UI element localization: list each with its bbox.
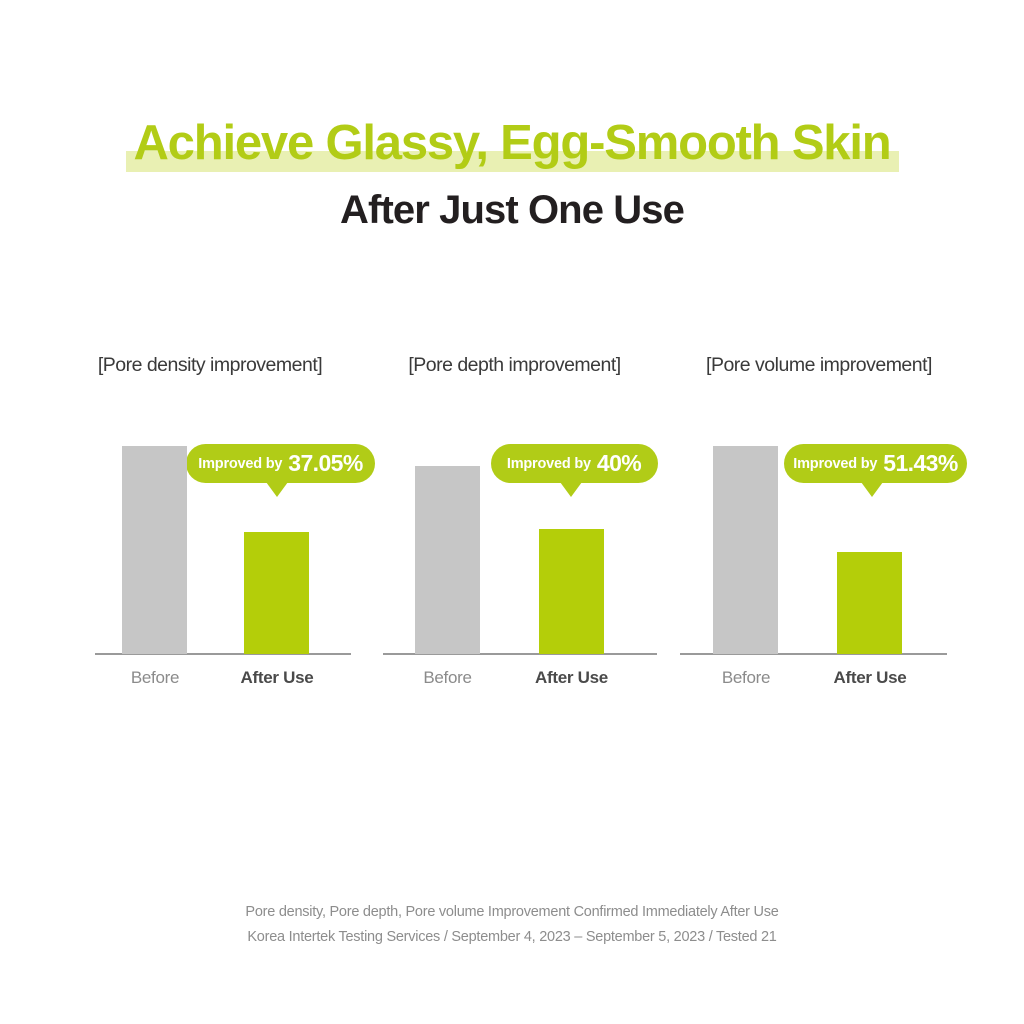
bar-after bbox=[244, 532, 309, 654]
chart-panel-pore-density: [Pore density improvement] Improved by 3… bbox=[62, 352, 358, 752]
bar-label-before: Before bbox=[114, 667, 196, 689]
panel-title: [Pore density improvement] bbox=[62, 352, 358, 378]
chart-panel-pore-volume: [Pore volume improvement] Improved by 51… bbox=[671, 352, 967, 752]
badge-prefix-text: Improved by bbox=[793, 456, 877, 472]
infographic-page: Achieve Glassy, Egg-Smooth Skin After Ju… bbox=[0, 0, 1024, 1024]
plot-area: Before After Use bbox=[62, 472, 358, 702]
panel-title: [Pore volume improvement] bbox=[671, 352, 967, 378]
headline-primary-text: Achieve Glassy, Egg-Smooth Skin bbox=[134, 116, 891, 170]
bar-before bbox=[122, 446, 187, 654]
footnote-line-2: Korea Intertek Testing Services / Septem… bbox=[0, 925, 1024, 950]
plot-area: Before After Use bbox=[367, 472, 663, 702]
headline-block: Achieve Glassy, Egg-Smooth Skin After Ju… bbox=[0, 112, 1024, 235]
charts-row: [Pore density improvement] Improved by 3… bbox=[62, 352, 967, 752]
bar-label-after: After Use bbox=[530, 667, 614, 689]
bar-before bbox=[713, 446, 778, 654]
panel-title: [Pore depth improvement] bbox=[367, 352, 663, 378]
headline-primary: Achieve Glassy, Egg-Smooth Skin bbox=[126, 112, 899, 174]
bar-label-before: Before bbox=[705, 667, 787, 689]
plot-area: Before After Use bbox=[671, 472, 967, 702]
chart-panel-pore-depth: [Pore depth improvement] Improved by 40%… bbox=[367, 352, 663, 752]
footnote-block: Pore density, Pore depth, Pore volume Im… bbox=[0, 900, 1024, 950]
bar-before bbox=[415, 466, 480, 654]
bar-label-after: After Use bbox=[828, 667, 912, 689]
badge-prefix-text: Improved by bbox=[198, 456, 282, 472]
bar-label-after: After Use bbox=[235, 667, 319, 689]
footnote-line-1: Pore density, Pore depth, Pore volume Im… bbox=[0, 900, 1024, 925]
headline-secondary: After Just One Use bbox=[0, 185, 1024, 235]
bar-after bbox=[837, 552, 902, 654]
badge-prefix-text: Improved by bbox=[507, 456, 591, 472]
bar-label-before: Before bbox=[407, 667, 489, 689]
bar-after bbox=[539, 529, 604, 654]
